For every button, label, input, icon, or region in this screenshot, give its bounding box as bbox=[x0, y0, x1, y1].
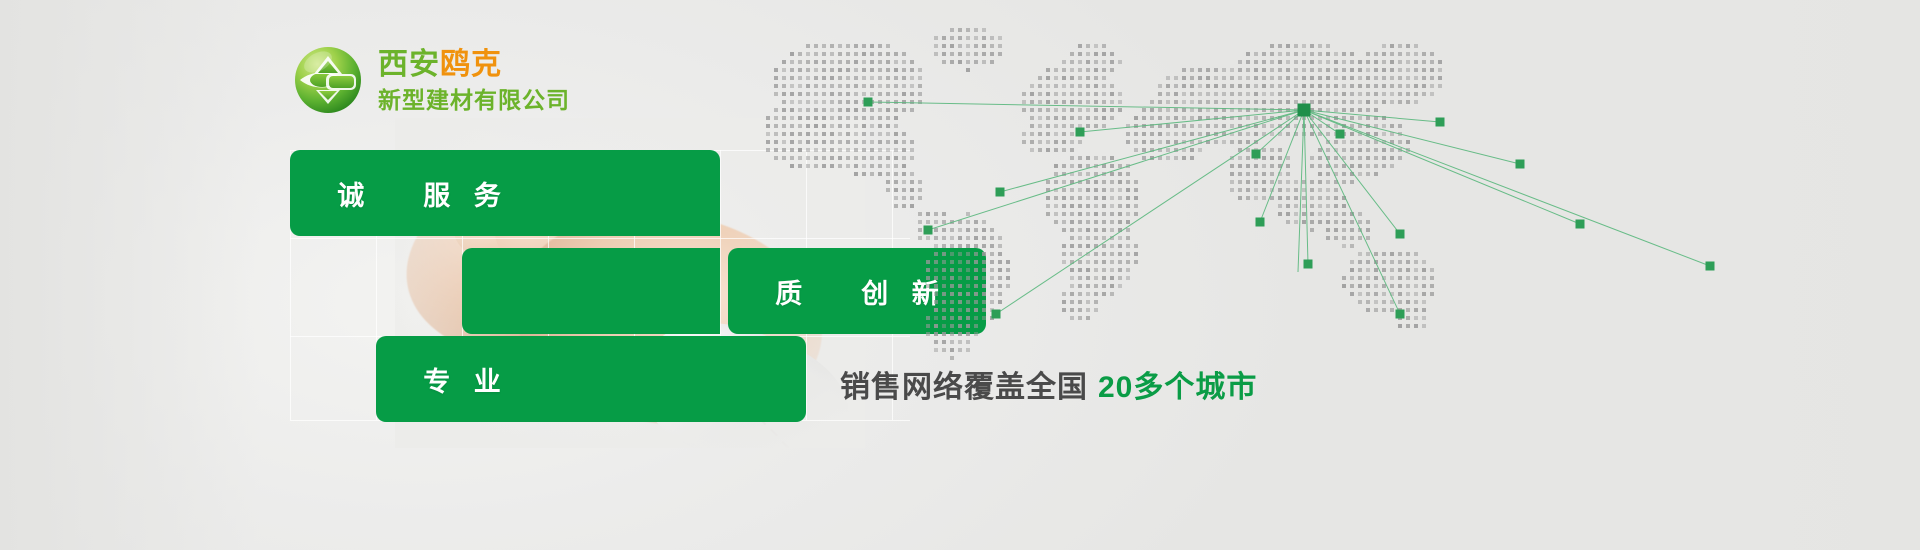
sales-network-tagline: 销售网络覆盖全国20多个城市 bbox=[840, 362, 1257, 406]
dotted-world-map-icon bbox=[700, 14, 1880, 374]
logo-city: 西安 bbox=[378, 48, 440, 81]
tile-service-label: 服 务 bbox=[415, 174, 509, 213]
tile-blank-4 bbox=[548, 248, 634, 334]
tile-blank-6 bbox=[548, 336, 634, 422]
tile-blank-3 bbox=[462, 248, 548, 334]
tile-professional[interactable]: 专 业 bbox=[376, 336, 548, 422]
logo-text-block: 西安鸥克 新型建材有限公司 bbox=[378, 48, 570, 112]
tagline-prefix: 销售网络覆盖全国 bbox=[840, 371, 1088, 404]
tile-service[interactable]: 服 务 bbox=[376, 150, 548, 236]
logo-title-line: 西安鸥克 bbox=[378, 50, 570, 80]
logo-brand: 鸥克 bbox=[440, 48, 502, 81]
tile-professional-label: 专 业 bbox=[415, 360, 509, 399]
logo-subtitle: 新型建材有限公司 bbox=[378, 89, 570, 112]
green-globe-leaf-logo-icon bbox=[292, 44, 364, 116]
tile-blank-1 bbox=[548, 150, 634, 236]
promo-banner: 诚 信 服 务 质 量 创 新 专 业 bbox=[0, 0, 1920, 550]
company-logo[interactable]: 西安鸥克 新型建材有限公司 bbox=[292, 44, 570, 116]
tagline-highlight: 20多个城市 bbox=[1098, 371, 1257, 404]
left-edge-vignette bbox=[0, 0, 260, 550]
